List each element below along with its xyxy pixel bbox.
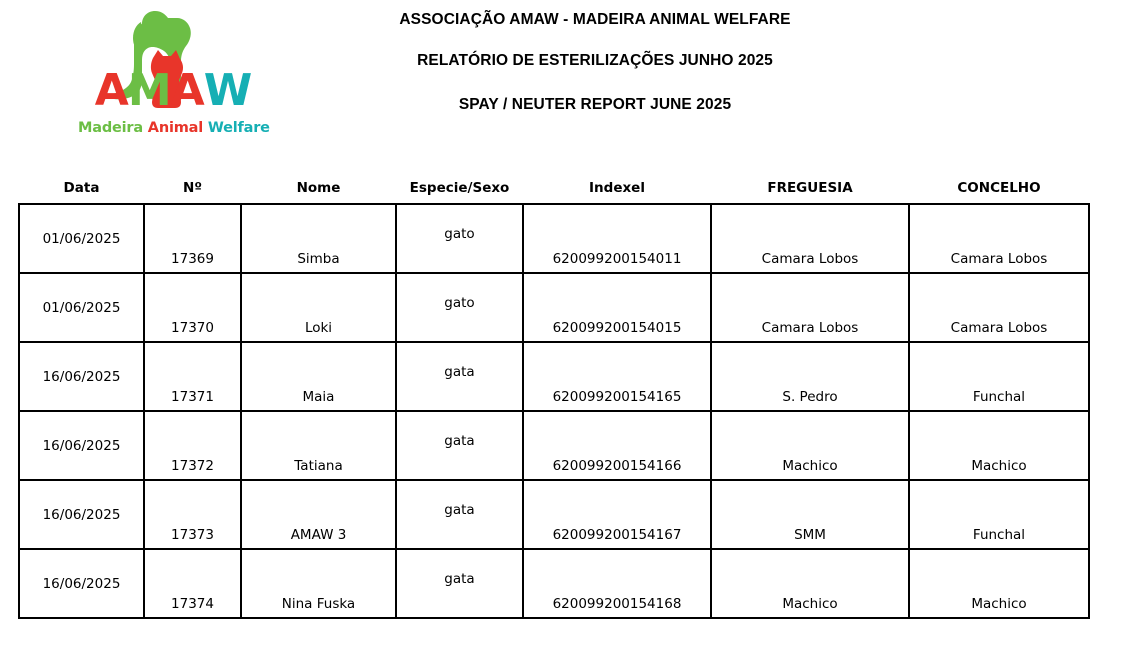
table-header: Data Nº Nome Especie/Sexo Indexel FREGUE… xyxy=(19,180,1089,204)
cell-data: 01/06/2025 xyxy=(19,204,144,273)
cell-especie-sexo: gata xyxy=(396,342,523,411)
wordmark-letter-w: W xyxy=(204,68,252,114)
cell-indexel: 620099200154168 xyxy=(523,549,711,618)
cell-nome: Simba xyxy=(241,204,396,273)
cell-concelho: Machico xyxy=(909,411,1089,480)
cell-concelho: Camara Lobos xyxy=(909,273,1089,342)
document-title-association: ASSOCIAÇÃO AMAW - MADEIRA ANIMAL WELFARE xyxy=(280,11,910,29)
table-row: 01/06/2025 17369 Simba gato 620099200154… xyxy=(19,204,1089,273)
cell-freguesia: Machico xyxy=(711,549,909,618)
column-header-especie-sexo: Especie/Sexo xyxy=(396,180,523,204)
table-row: 16/06/2025 17372 Tatiana gata 6200992001… xyxy=(19,411,1089,480)
cell-numero: 17370 xyxy=(144,273,241,342)
document-title-report-en: SPAY / NEUTER REPORT JUNE 2025 xyxy=(280,96,910,114)
cell-indexel: 620099200154165 xyxy=(523,342,711,411)
cell-especie-sexo: gato xyxy=(396,204,523,273)
cell-numero: 17371 xyxy=(144,342,241,411)
cell-numero: 17369 xyxy=(144,204,241,273)
table-header-row: Data Nº Nome Especie/Sexo Indexel FREGUE… xyxy=(19,180,1089,204)
cell-nome: Tatiana xyxy=(241,411,396,480)
amaw-logo: AMAW Madeira Animal Welfare xyxy=(78,6,268,142)
tagline-word-welfare: Welfare xyxy=(208,120,270,136)
cell-concelho: Camara Lobos xyxy=(909,204,1089,273)
cell-numero: 17372 xyxy=(144,411,241,480)
tagline-word-madeira: Madeira xyxy=(78,120,143,136)
cell-numero: 17373 xyxy=(144,480,241,549)
table-body: 01/06/2025 17369 Simba gato 620099200154… xyxy=(19,204,1089,618)
cell-especie-sexo: gata xyxy=(396,549,523,618)
cell-especie-sexo: gata xyxy=(396,411,523,480)
wordmark-letter-m: M xyxy=(128,68,171,114)
table-row: 16/06/2025 17373 AMAW 3 gata 62009920015… xyxy=(19,480,1089,549)
table-row: 16/06/2025 17371 Maia gata 6200992001541… xyxy=(19,342,1089,411)
cell-freguesia: Camara Lobos xyxy=(711,204,909,273)
cell-nome: AMAW 3 xyxy=(241,480,396,549)
cell-concelho: Funchal xyxy=(909,342,1089,411)
cell-freguesia: Camara Lobos xyxy=(711,273,909,342)
amaw-wordmark: AMAW xyxy=(78,68,268,114)
cell-data: 16/06/2025 xyxy=(19,411,144,480)
cell-freguesia: S. Pedro xyxy=(711,342,909,411)
cell-nome: Loki xyxy=(241,273,396,342)
column-header-nome: Nome xyxy=(241,180,396,204)
logo-tagline: Madeira Animal Welfare xyxy=(78,120,268,136)
cell-especie-sexo: gata xyxy=(396,480,523,549)
column-header-concelho: CONCELHO xyxy=(909,180,1089,204)
cell-data: 01/06/2025 xyxy=(19,273,144,342)
cell-freguesia: SMM xyxy=(711,480,909,549)
cell-freguesia: Machico xyxy=(711,411,909,480)
cell-indexel: 620099200154015 xyxy=(523,273,711,342)
wordmark-letter-a2: A xyxy=(171,68,204,114)
cell-concelho: Machico xyxy=(909,549,1089,618)
cell-indexel: 620099200154166 xyxy=(523,411,711,480)
cell-especie-sexo: gato xyxy=(396,273,523,342)
cell-data: 16/06/2025 xyxy=(19,342,144,411)
cell-numero: 17374 xyxy=(144,549,241,618)
cell-data: 16/06/2025 xyxy=(19,549,144,618)
table-row: 16/06/2025 17374 Nina Fuska gata 6200992… xyxy=(19,549,1089,618)
cell-indexel: 620099200154167 xyxy=(523,480,711,549)
document-title-report-pt: RELATÓRIO DE ESTERILIZAÇÕES JUNHO 2025 xyxy=(280,52,910,70)
sterilization-report-table: Data Nº Nome Especie/Sexo Indexel FREGUE… xyxy=(18,180,1090,619)
wordmark-letter-a1: A xyxy=(95,68,128,114)
cell-nome: Maia xyxy=(241,342,396,411)
cell-indexel: 620099200154011 xyxy=(523,204,711,273)
column-header-indexel: Indexel xyxy=(523,180,711,204)
column-header-freguesia: FREGUESIA xyxy=(711,180,909,204)
cell-nome: Nina Fuska xyxy=(241,549,396,618)
column-header-data: Data xyxy=(19,180,144,204)
tagline-word-animal: Animal xyxy=(148,120,203,136)
cell-concelho: Funchal xyxy=(909,480,1089,549)
column-header-numero: Nº xyxy=(144,180,241,204)
cell-data: 16/06/2025 xyxy=(19,480,144,549)
table-row: 01/06/2025 17370 Loki gato 6200992001540… xyxy=(19,273,1089,342)
